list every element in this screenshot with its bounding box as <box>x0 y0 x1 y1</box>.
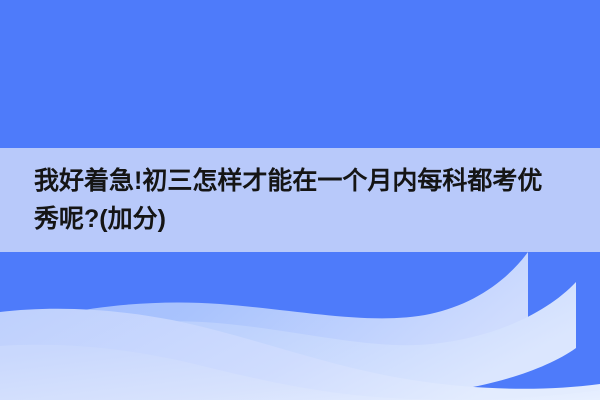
top-blue-band <box>0 0 600 148</box>
banner-card: 我好着急!初三怎样才能在一个月内每科都考优秀呢?(加分) <box>0 0 600 400</box>
page-title: 我好着急!初三怎样才能在一个月内每科都考优秀呢?(加分) <box>34 162 566 238</box>
wave-decoration <box>0 252 600 400</box>
title-container: 我好着急!初三怎样才能在一个月内每科都考优秀呢?(加分) <box>0 148 600 252</box>
